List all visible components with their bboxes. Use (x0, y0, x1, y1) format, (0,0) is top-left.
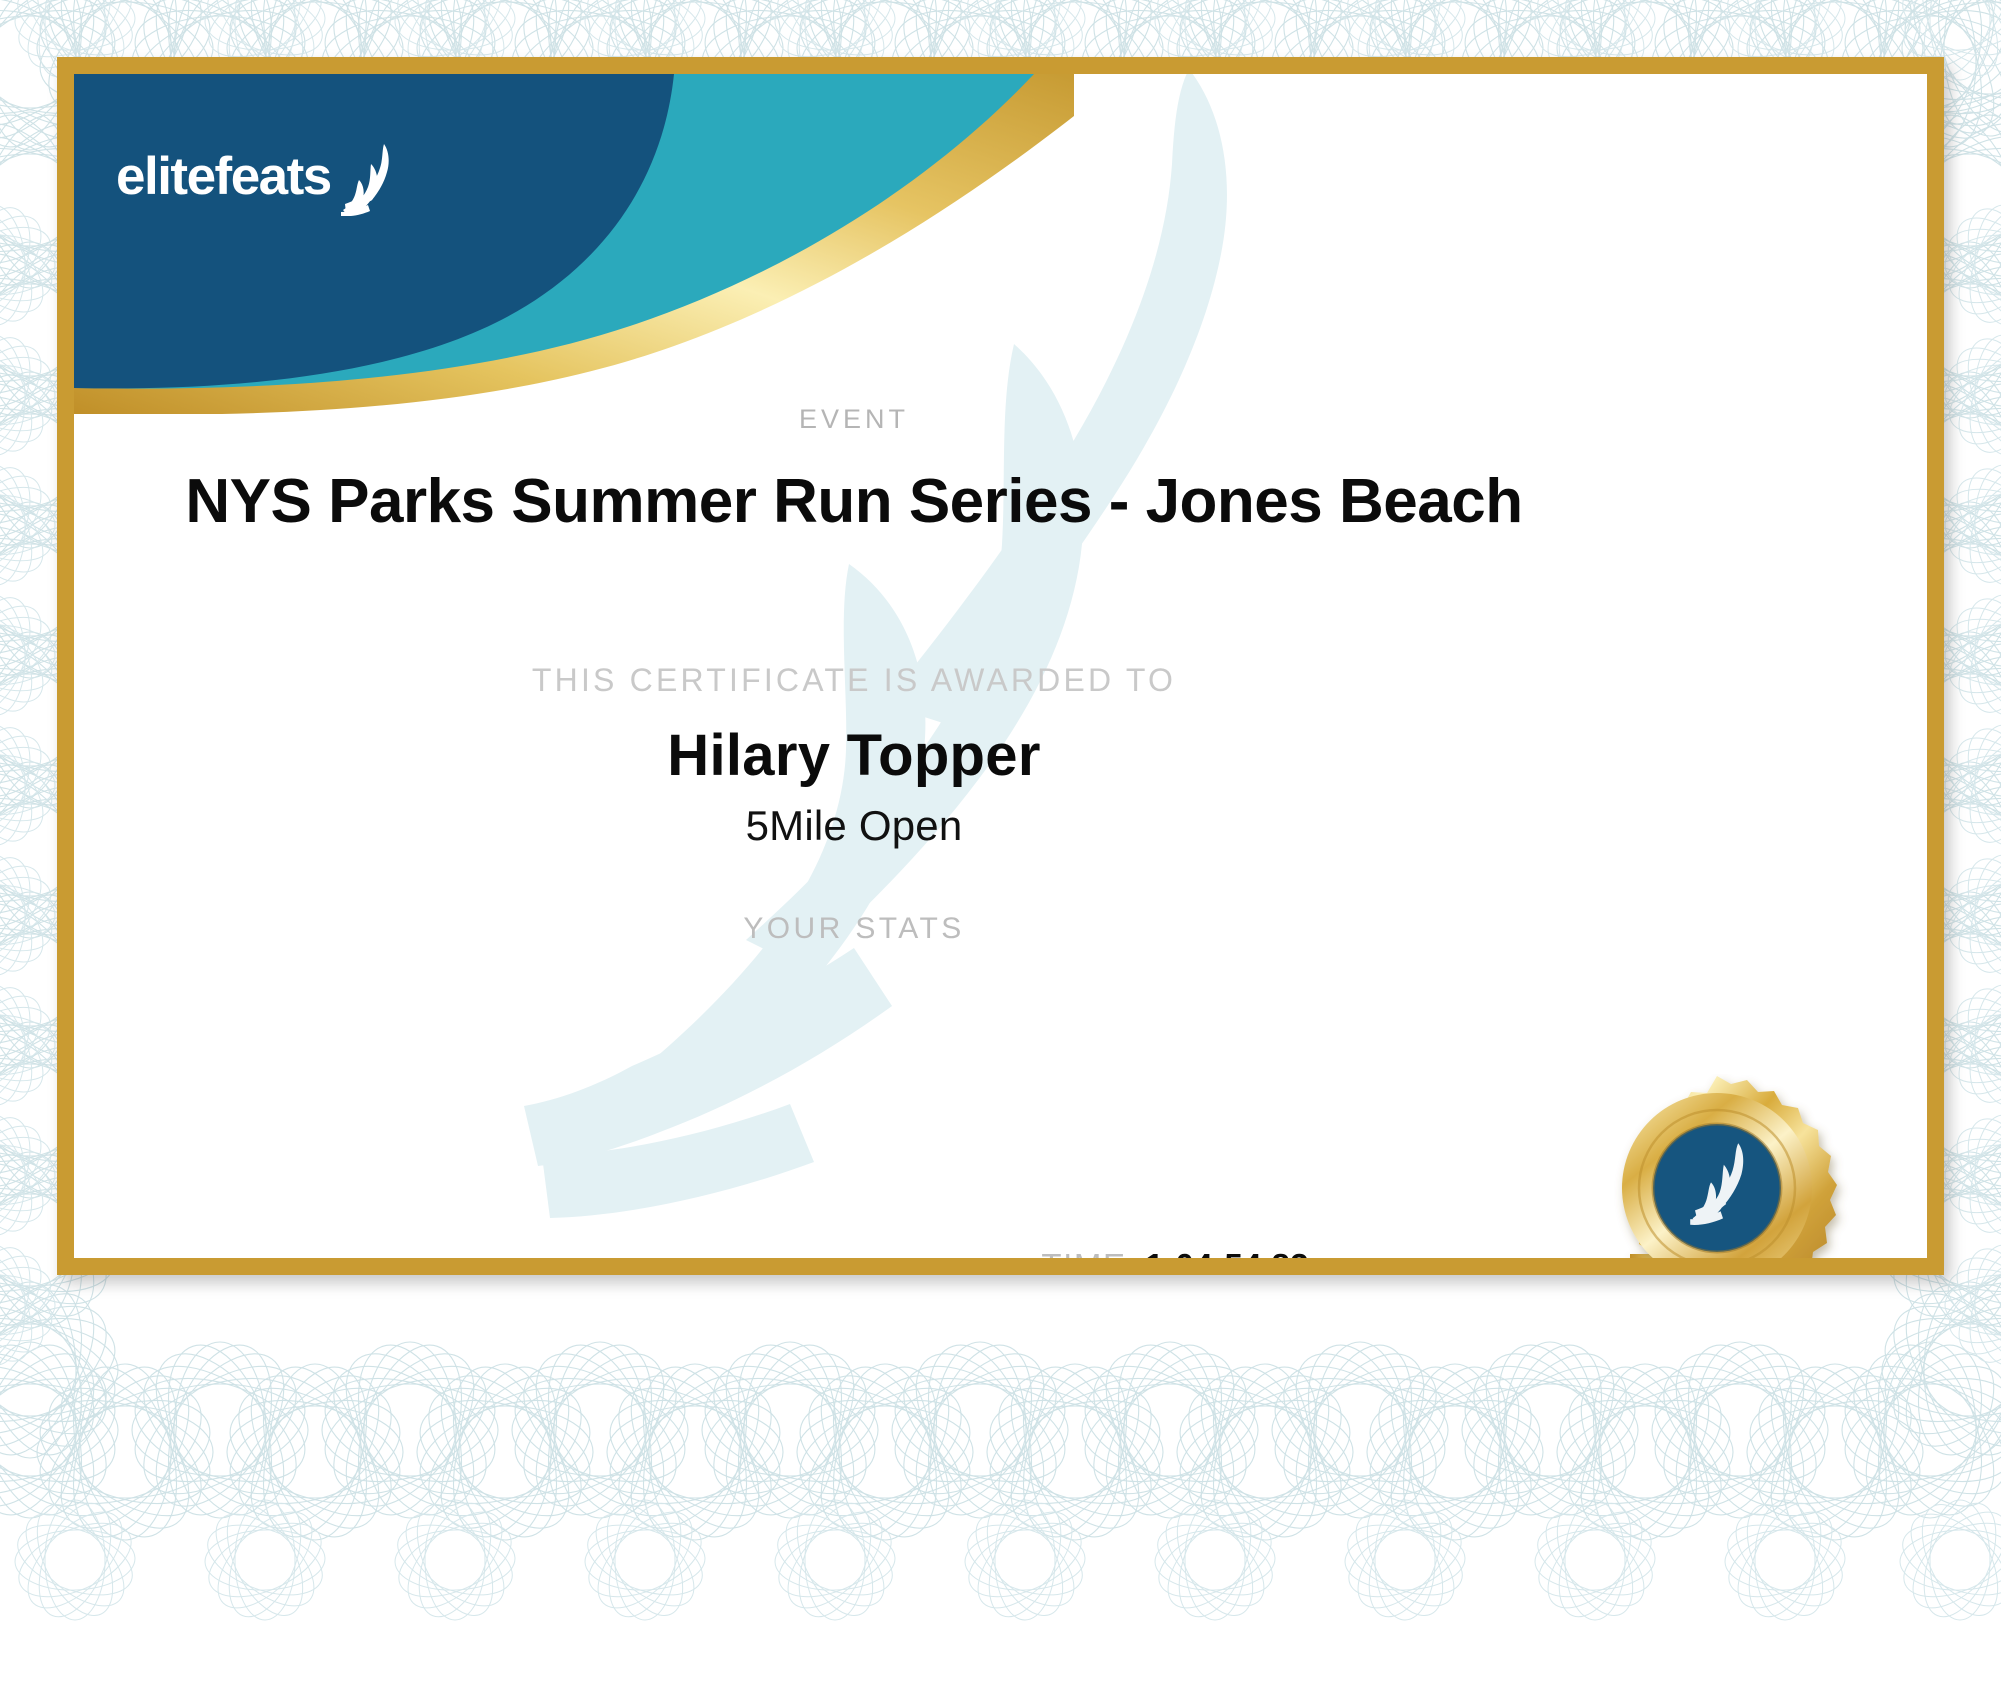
division-name: 5Mile Open (74, 802, 1634, 850)
event-title: NYS Parks Summer Run Series - Jones Beac… (74, 466, 1634, 537)
awarded-to-label: THIS CERTIFICATE IS AWARDED TO (74, 662, 1634, 699)
stat-row-time: TIME:1:04:54.83 (74, 1249, 1309, 1258)
stats-list: TIME:1:04:54.83 AGE GROUP PLACE:70 of 88… (74, 1249, 1309, 1258)
certificate-card: elitefeats EVENT NYS Parks Summer Run Se… (74, 74, 1927, 1258)
winged-foot-medal-icon: 2019 (1552, 1074, 1882, 1258)
winged-foot-icon (337, 142, 399, 216)
logo-wordmark: elitefeats (116, 150, 331, 203)
certificate-page: elitefeats EVENT NYS Parks Summer Run Se… (0, 0, 2001, 1700)
your-stats-label: YOUR STATS (74, 912, 1634, 946)
finisher-medal-badge: 2019 FINISHER CERTIFICATE (1552, 1074, 1882, 1258)
recipient-name: Hilary Topper (74, 722, 1634, 789)
elitefeats-logo: elitefeats (116, 136, 399, 216)
stat-label: TIME: (1041, 1247, 1137, 1258)
event-label: EVENT (74, 404, 1634, 435)
certificate-gold-frame: elitefeats EVENT NYS Parks Summer Run Se… (57, 57, 1944, 1275)
certificate-body: EVENT NYS Parks Summer Run Series - Jone… (74, 74, 1927, 1258)
stat-value: 1:04:54.83 (1145, 1247, 1309, 1258)
